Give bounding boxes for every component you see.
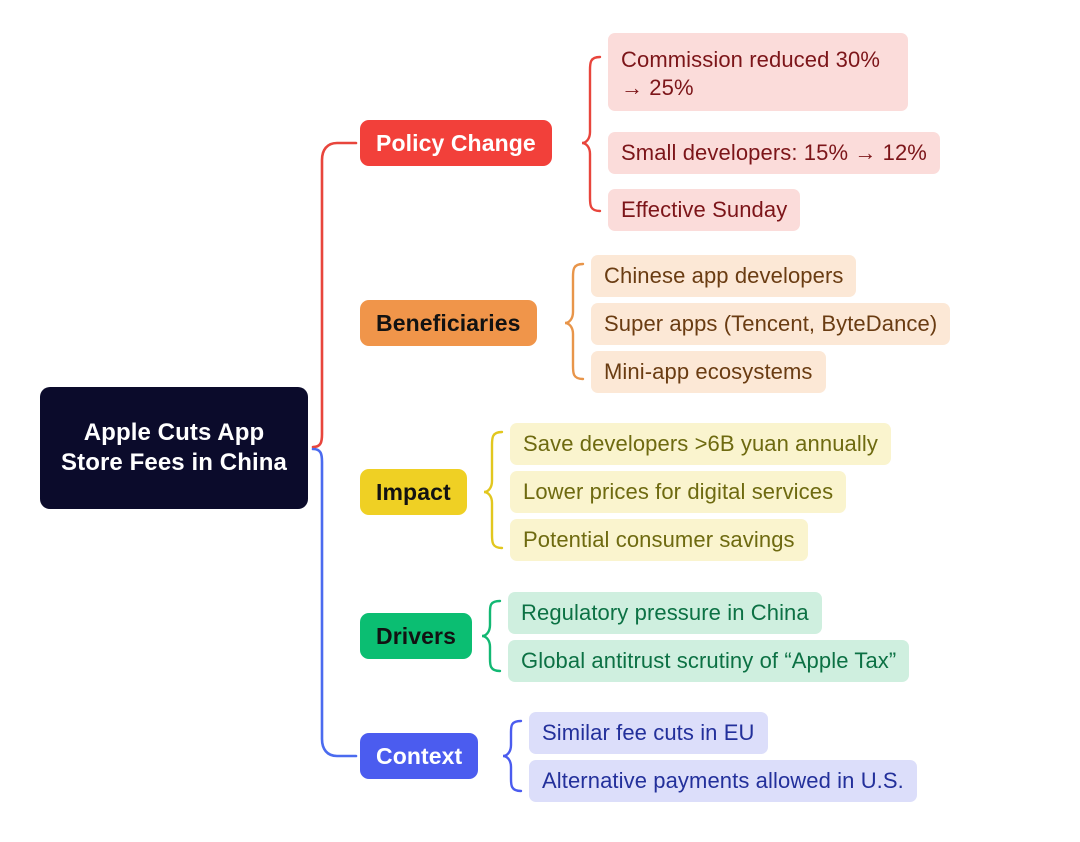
leaf-label: Similar fee cuts in EU	[542, 720, 755, 746]
root-node[interactable]: Apple Cuts App Store Fees in China	[40, 387, 308, 509]
leaf-label: Small developers: 15% → 12%	[621, 140, 927, 166]
brace-impact	[484, 432, 502, 548]
leaf-label: Super apps (Tencent, ByteDance)	[604, 311, 937, 337]
branch-node-policy-change[interactable]: Policy Change	[360, 120, 552, 166]
leaf-label: Potential consumer savings	[523, 527, 795, 553]
leaf-label: Mini-app ecosystems	[604, 359, 813, 385]
leaf-label: Lower prices for digital services	[523, 479, 833, 505]
brace-drivers	[482, 601, 500, 671]
leaf-label: Regulatory pressure in China	[521, 600, 809, 626]
leaf-beneficiaries-2[interactable]: Mini-app ecosystems	[591, 351, 826, 393]
leaf-impact-2[interactable]: Potential consumer savings	[510, 519, 808, 561]
leaf-policy-change-2[interactable]: Effective Sunday	[608, 189, 800, 231]
leaf-context-1[interactable]: Alternative payments allowed in U.S.	[529, 760, 917, 802]
branch-label-drivers: Drivers	[376, 623, 456, 650]
trunk-upper	[313, 143, 356, 447]
leaf-label: Chinese app developers	[604, 263, 843, 289]
leaf-context-0[interactable]: Similar fee cuts in EU	[529, 712, 768, 754]
leaf-impact-0[interactable]: Save developers >6B yuan annually	[510, 423, 891, 465]
branch-label-impact: Impact	[376, 479, 451, 506]
leaf-label: Commission reduced 30% → 25%	[621, 46, 895, 102]
brace-beneficiaries	[565, 264, 583, 379]
leaf-beneficiaries-1[interactable]: Super apps (Tencent, ByteDance)	[591, 303, 950, 345]
leaf-policy-change-1[interactable]: Small developers: 15% → 12%	[608, 132, 940, 174]
mindmap-canvas: Apple Cuts App Store Fees in China Polic…	[0, 0, 1080, 842]
brace-context	[503, 721, 521, 791]
leaf-beneficiaries-0[interactable]: Chinese app developers	[591, 255, 856, 297]
leaf-impact-1[interactable]: Lower prices for digital services	[510, 471, 846, 513]
leaf-label: Save developers >6B yuan annually	[523, 431, 878, 457]
branch-label-context: Context	[376, 743, 462, 770]
leaf-policy-change-0[interactable]: Commission reduced 30% → 25%	[608, 33, 908, 111]
trunk-lower	[313, 449, 356, 756]
leaf-drivers-0[interactable]: Regulatory pressure in China	[508, 592, 822, 634]
branch-node-impact[interactable]: Impact	[360, 469, 467, 515]
leaf-label: Global antitrust scrutiny of “Apple Tax”	[521, 648, 896, 674]
branch-node-context[interactable]: Context	[360, 733, 478, 779]
branch-node-beneficiaries[interactable]: Beneficiaries	[360, 300, 537, 346]
leaf-label: Alternative payments allowed in U.S.	[542, 768, 904, 794]
branch-label-beneficiaries: Beneficiaries	[376, 310, 521, 337]
branch-node-drivers[interactable]: Drivers	[360, 613, 472, 659]
branch-label-policy-change: Policy Change	[376, 130, 536, 157]
brace-policy-change	[582, 57, 600, 211]
root-node-label: Apple Cuts App Store Fees in China	[54, 418, 294, 478]
leaf-label: Effective Sunday	[621, 197, 787, 223]
leaf-drivers-1[interactable]: Global antitrust scrutiny of “Apple Tax”	[508, 640, 909, 682]
